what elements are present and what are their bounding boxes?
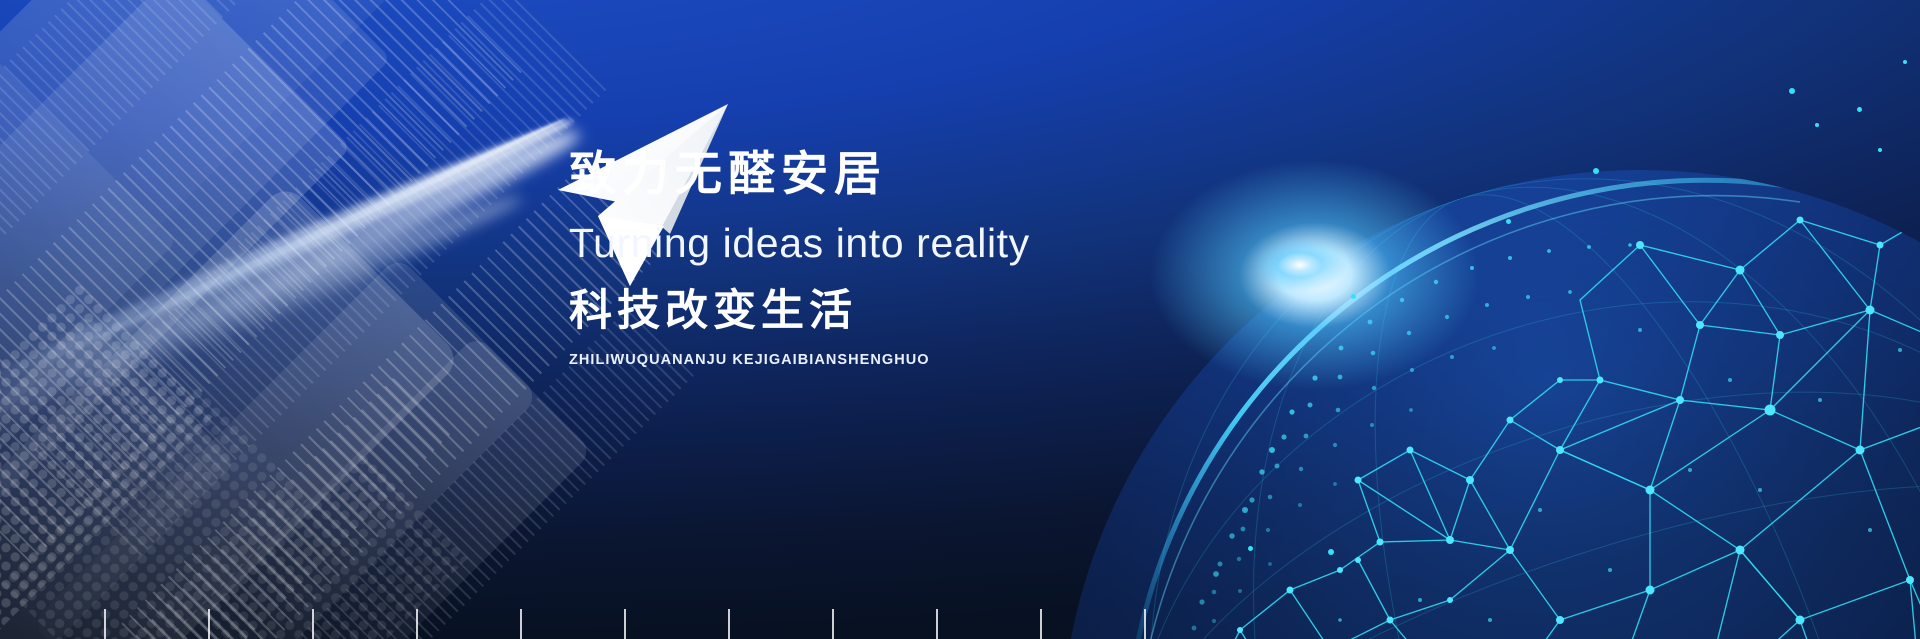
tick-mark [1144, 609, 1146, 639]
pinyin-caption: ZHILIWUQUANANJU KEJIGAIBIANSHENGHUO [569, 353, 1269, 368]
bottom-tick-marks [0, 605, 1920, 639]
tagline-english: Turning ideas into reality [569, 223, 1269, 264]
tick-mark [728, 609, 730, 639]
headline-chinese: 致力无醛安居 [569, 150, 1269, 197]
subheadline-chinese: 科技改变生活 [569, 290, 1269, 333]
tick-mark [208, 609, 210, 639]
tick-mark [104, 609, 106, 639]
tick-mark [520, 609, 522, 639]
hero-banner: 致力无醛安居 Turning ideas into reality 科技改变生活… [0, 0, 1920, 639]
tick-mark [624, 609, 626, 639]
tick-mark [312, 609, 314, 639]
banner-copy: 致力无醛安居 Turning ideas into reality 科技改变生活… [569, 150, 1269, 368]
tick-mark [1040, 609, 1042, 639]
tick-mark [832, 609, 834, 639]
tick-mark [936, 609, 938, 639]
tick-mark [416, 609, 418, 639]
